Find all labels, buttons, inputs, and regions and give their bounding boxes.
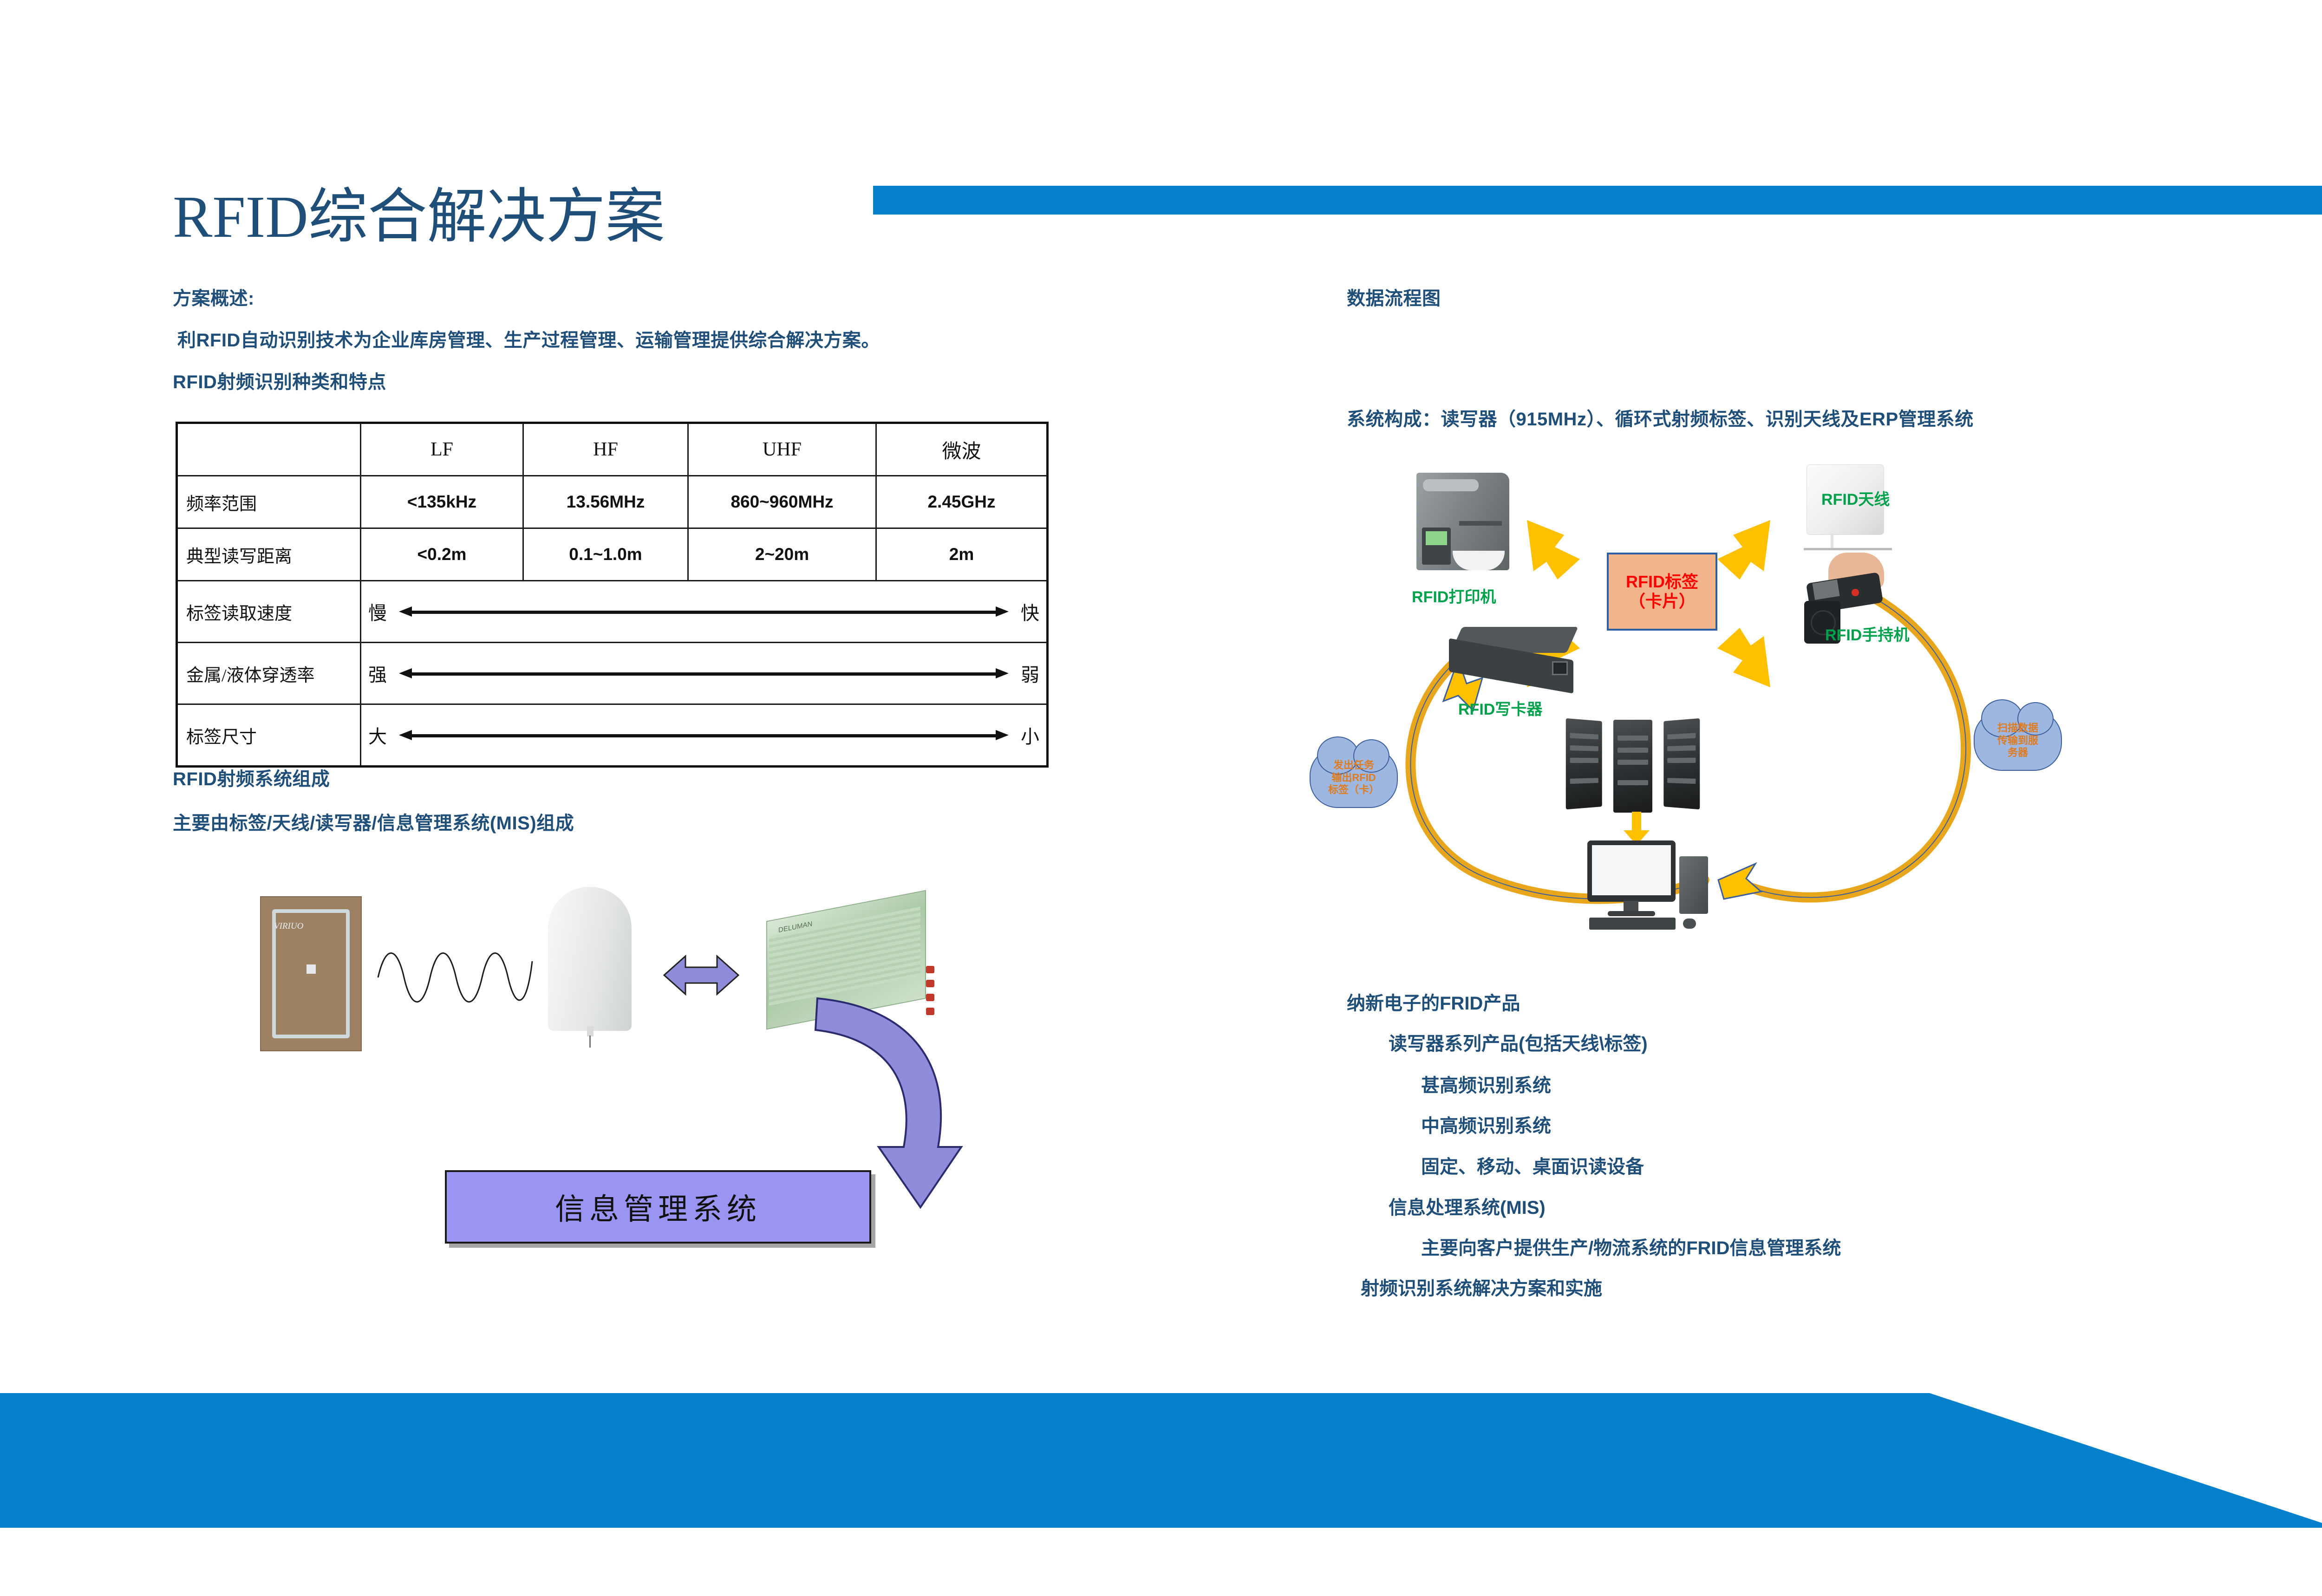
- column-header-hf: HF: [523, 423, 688, 476]
- antenna-label: RFID天线: [1821, 487, 1890, 509]
- cloud-left-callout: 发出任务 输出RFID 标签（卡）: [1310, 748, 1398, 808]
- bullet-item-5: 信息处理系统(MIS): [1389, 1192, 1546, 1219]
- page-title: RFID综合解决方案: [173, 186, 665, 248]
- cloud-right-callout: 扫描数据 传输到服 务器: [1974, 710, 2062, 771]
- table-row: 典型读写距离 <0.2m 0.1~1.0m 2~20m 2m: [177, 528, 1048, 581]
- compose-text: 主要由标签/天线/读写器/信息管理系统(MIS)组成: [173, 808, 574, 835]
- double-arrow-icon: [659, 950, 743, 1001]
- column-header-lf: LF: [361, 423, 523, 476]
- rfid-tag-photo: VIRIUO: [260, 896, 362, 1051]
- server-rack-photo: [1565, 720, 1704, 813]
- bullet-item-3: 中高频识别系统: [1421, 1111, 1551, 1138]
- table-row: 标签读取速度 慢 快: [177, 581, 1048, 643]
- column-header-uhf: UHF: [688, 423, 876, 476]
- desktop-computer-photo: [1579, 840, 1718, 929]
- bullet-item-4: 固定、移动、桌面识读设备: [1421, 1152, 1644, 1179]
- data-flow-diagram: RFID打印机 RFID写卡器 RFID标签 （卡片） RFID天线 RFID手…: [1319, 460, 2173, 971]
- cloud-right-line3: 务器: [2008, 747, 2028, 759]
- bullet-item-2: 甚高频识别系统: [1421, 1070, 1551, 1097]
- cloud-left-line1: 发出任务: [1333, 759, 1374, 771]
- radio-wave-icon: [376, 943, 534, 1012]
- cell-frequency-hf: 13.56MHz: [523, 476, 688, 528]
- scale-double-arrow-icon: [399, 606, 1009, 618]
- cloud-left-line3: 标签（卡）: [1328, 784, 1379, 796]
- cell-distance-mw: 2m: [876, 528, 1048, 581]
- rfid-printer-photo: [1416, 473, 1519, 589]
- cell-distance-uhf: 2~20m: [688, 528, 876, 581]
- mis-system-box: 信息管理系统: [445, 1170, 871, 1244]
- cloud-right-line1: 扫描数据: [1997, 722, 2038, 734]
- scale-double-arrow-icon: [399, 729, 1009, 741]
- bullet-item-1: 读写器系列产品(包括天线\标签): [1389, 1029, 1648, 1055]
- rfid-comparison-table: LF HF UHF 微波 频率范围 <135kHz 13.56MHz 860~9…: [176, 422, 1049, 768]
- table-corner-cell: [177, 423, 361, 476]
- row-label-frequency: 频率范围: [177, 476, 361, 528]
- scale-right-label: 小: [1021, 722, 1039, 749]
- scale-left-label: 强: [368, 660, 387, 687]
- tag-box-line2: （卡片）: [1629, 592, 1696, 611]
- row-label-tag-size: 标签尺寸: [177, 704, 361, 767]
- tag-box-line1: RFID标签: [1626, 572, 1698, 592]
- system-makeup-label: 系统构成：读写器（915MHz）、循环式射频标签、识别天线及ERP管理系统: [1347, 404, 1974, 431]
- data-flow-diagram-label: 数据流程图: [1347, 283, 1441, 310]
- cloud-right-line2: 传输到服: [1997, 735, 2038, 747]
- cell-distance-lf: <0.2m: [361, 528, 523, 581]
- bullet-item-6: 主要向客户提供生产/物流系统的FRID信息管理系统: [1421, 1233, 1841, 1260]
- scale-tag-size: 大 小: [361, 704, 1048, 767]
- cloud-left-line2: 输出RFID: [1331, 772, 1376, 784]
- kinds-label: RFID射频识别种类和特点: [173, 367, 386, 394]
- mis-system-label: 信息管理系统: [555, 1186, 761, 1228]
- cell-distance-hf: 0.1~1.0m: [523, 528, 688, 581]
- top-accent-bar: [873, 186, 2322, 215]
- cell-frequency-mw: 2.45GHz: [876, 476, 1048, 528]
- bullet-item-0: 纳新电子的FRID产品: [1347, 988, 1520, 1015]
- table-row: 金属/液体穿透率 强 弱: [177, 643, 1048, 704]
- compose-label: RFID射频系统组成: [173, 764, 330, 791]
- scale-penetration: 强 弱: [361, 643, 1048, 704]
- rfid-tag-card-box: RFID标签 （卡片）: [1607, 553, 1717, 631]
- rfid-hardware-illustration: VIRIUO DELUMAN: [251, 882, 975, 1217]
- scale-left-label: 大: [368, 722, 387, 749]
- overview-text: 利RFID自动识别技术为企业库房管理、生产过程管理、运输管理提供综合解决方案。: [177, 325, 880, 352]
- row-label-read-speed: 标签读取速度: [177, 581, 361, 643]
- column-header-microwave: 微波: [876, 423, 1048, 476]
- handheld-label: RFID手持机: [1825, 622, 1909, 645]
- scale-right-label: 弱: [1021, 660, 1039, 687]
- writer-label: RFID写卡器: [1458, 697, 1542, 719]
- scale-read-speed: 慢 快: [361, 581, 1048, 643]
- bullet-item-7: 射频识别系统解决方案和实施: [1361, 1273, 1602, 1300]
- table-header-row: LF HF UHF 微波: [177, 423, 1048, 476]
- table-row: 频率范围 <135kHz 13.56MHz 860~960MHz 2.45GHz: [177, 476, 1048, 528]
- rfid-panel-antenna-photo: [548, 887, 632, 1047]
- scale-right-label: 快: [1021, 598, 1039, 625]
- scale-double-arrow-icon: [399, 667, 1009, 679]
- row-label-distance: 典型读写距离: [177, 528, 361, 581]
- cell-frequency-uhf: 860~960MHz: [688, 476, 876, 528]
- rfid-card-writer-photo: [1449, 627, 1588, 697]
- overview-label: 方案概述:: [173, 283, 254, 310]
- printer-label: RFID打印机: [1412, 584, 1496, 607]
- row-label-penetration: 金属/液体穿透率: [177, 643, 361, 704]
- bottom-accent-band: [0, 1393, 2322, 1528]
- cell-frequency-lf: <135kHz: [361, 476, 523, 528]
- scale-left-label: 慢: [368, 598, 387, 625]
- table-row: 标签尺寸 大 小: [177, 704, 1048, 767]
